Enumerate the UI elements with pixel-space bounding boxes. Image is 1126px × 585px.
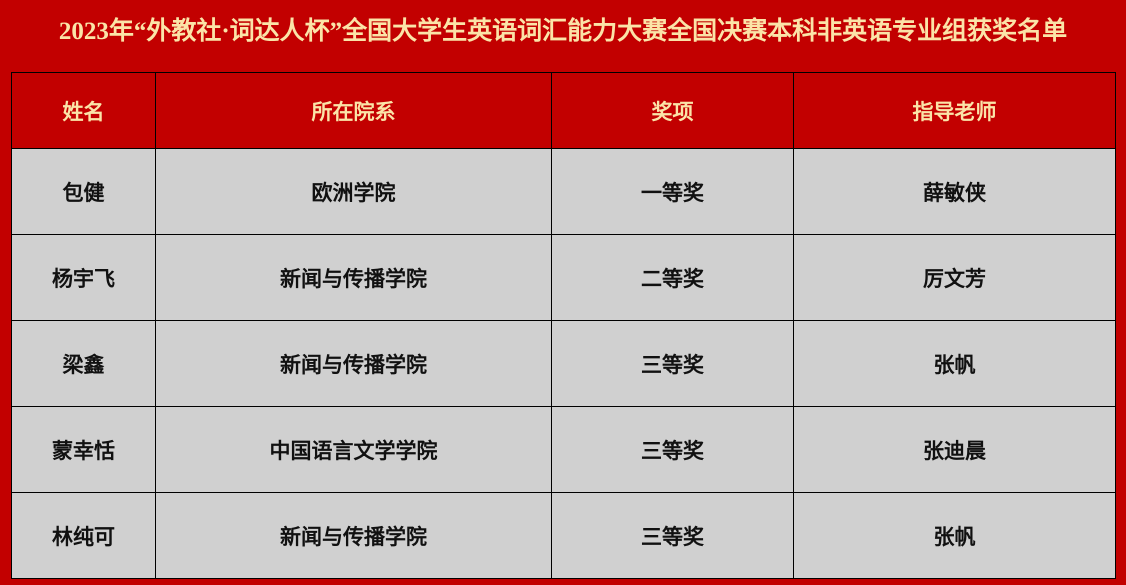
table-row: 包健 欧洲学院 一等奖 薛敏侠 <box>12 149 1116 235</box>
cell-mentor: 张迪晨 <box>794 407 1116 493</box>
title-bar: 2023年“外教社·词达人杯”全国大学生英语词汇能力大赛全国决赛本科非英语专业组… <box>0 0 1126 62</box>
column-header-award: 奖项 <box>552 73 794 149</box>
award-table: 姓名 所在院系 奖项 指导老师 包健 欧洲学院 一等奖 薛敏侠 杨宇飞 新闻与传… <box>11 72 1116 579</box>
cell-name: 包健 <box>12 149 156 235</box>
cell-mentor: 张帆 <box>794 493 1116 579</box>
cell-dept: 新闻与传播学院 <box>156 235 552 321</box>
cell-mentor: 薛敏侠 <box>794 149 1116 235</box>
table-row: 杨宇飞 新闻与传播学院 二等奖 厉文芳 <box>12 235 1116 321</box>
column-header-dept: 所在院系 <box>156 73 552 149</box>
cell-award: 三等奖 <box>552 407 794 493</box>
cell-award: 三等奖 <box>552 321 794 407</box>
table-header: 姓名 所在院系 奖项 指导老师 <box>12 73 1116 149</box>
cell-mentor: 张帆 <box>794 321 1116 407</box>
cell-dept: 新闻与传播学院 <box>156 493 552 579</box>
table-row: 梁鑫 新闻与传播学院 三等奖 张帆 <box>12 321 1116 407</box>
page-title: 2023年“外教社·词达人杯”全国大学生英语词汇能力大赛全国决赛本科非英语专业组… <box>59 19 1067 44</box>
cell-name: 杨宇飞 <box>12 235 156 321</box>
cell-name: 蒙幸恬 <box>12 407 156 493</box>
cell-award: 三等奖 <box>552 493 794 579</box>
award-list-page: 2023年“外教社·词达人杯”全国大学生英语词汇能力大赛全国决赛本科非英语专业组… <box>0 0 1126 585</box>
cell-name: 林纯可 <box>12 493 156 579</box>
table-body: 包健 欧洲学院 一等奖 薛敏侠 杨宇飞 新闻与传播学院 二等奖 厉文芳 梁鑫 新… <box>12 149 1116 579</box>
cell-dept: 欧洲学院 <box>156 149 552 235</box>
table-row: 蒙幸恬 中国语言文学学院 三等奖 张迪晨 <box>12 407 1116 493</box>
cell-name: 梁鑫 <box>12 321 156 407</box>
cell-dept: 新闻与传播学院 <box>156 321 552 407</box>
cell-dept: 中国语言文学学院 <box>156 407 552 493</box>
column-header-mentor: 指导老师 <box>794 73 1116 149</box>
column-header-name: 姓名 <box>12 73 156 149</box>
table-header-row: 姓名 所在院系 奖项 指导老师 <box>12 73 1116 149</box>
cell-award: 二等奖 <box>552 235 794 321</box>
cell-mentor: 厉文芳 <box>794 235 1116 321</box>
cell-award: 一等奖 <box>552 149 794 235</box>
table-row: 林纯可 新闻与传播学院 三等奖 张帆 <box>12 493 1116 579</box>
